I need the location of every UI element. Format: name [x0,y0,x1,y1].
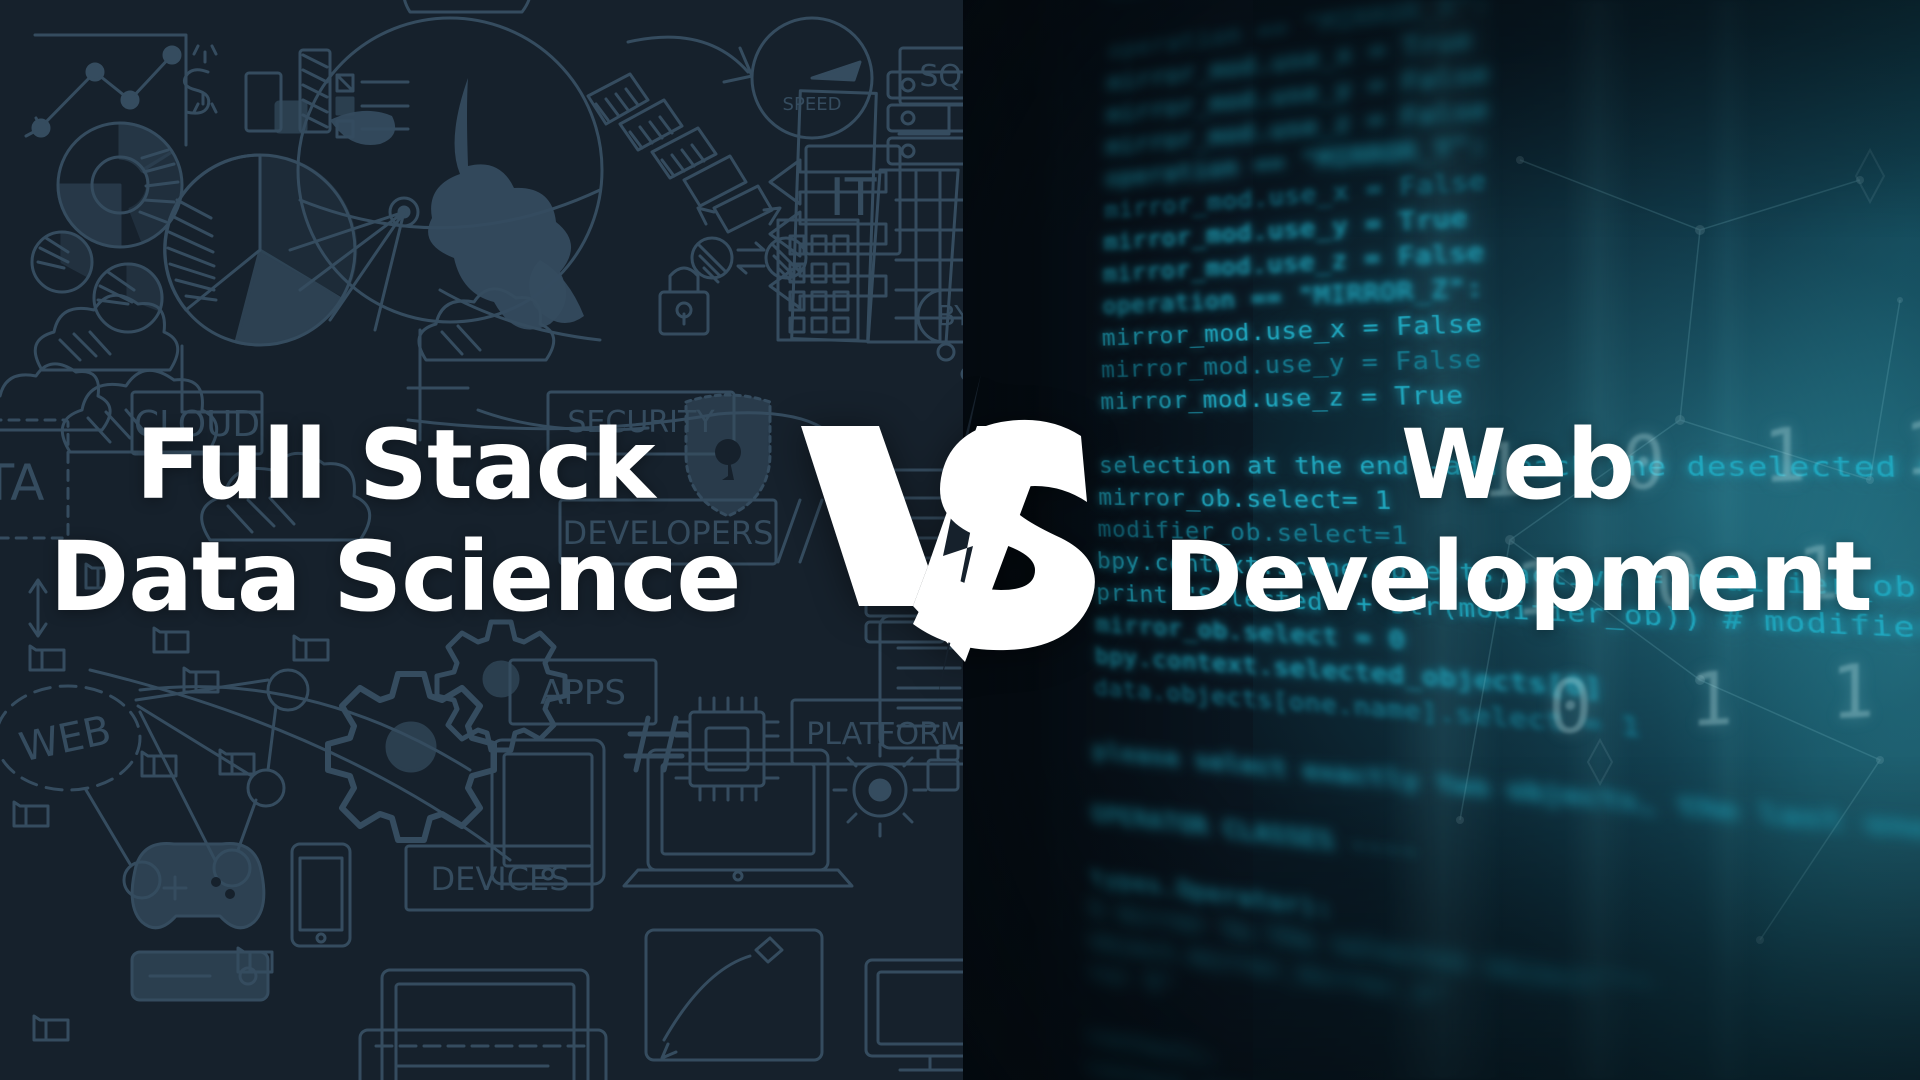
donut-chart-icon [58,123,182,247]
right-title: Web Development [1115,415,1920,629]
versus-banner: SPEED SQL [0,0,1920,1080]
svg-text:BYOD: BYOD [937,299,963,332]
left-title-line2: Data Science [0,527,790,629]
vs-badge [795,370,1125,700]
svg-text:SPEED: SPEED [783,94,842,115]
right-title-line1: Web [1115,415,1920,517]
gamepad-icon [132,843,264,927]
svg-text:APPS: APPS [540,673,626,713]
left-title-line1: Full Stack [0,415,790,517]
svg-text:SQL: SQL [919,59,963,94]
console-icon [132,952,268,1000]
binary-row: 0 1 1 0 [1480,628,1920,772]
right-title-line2: Development [1115,527,1920,629]
left-title: Full Stack Data Science [0,415,790,629]
